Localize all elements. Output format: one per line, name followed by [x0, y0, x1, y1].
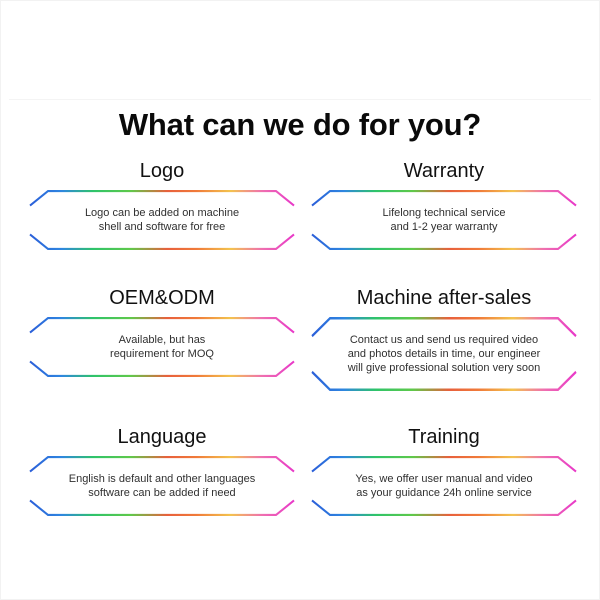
card-line: Contact us and send us required video	[340, 333, 548, 347]
card-line: Yes, we offer user manual and video	[340, 472, 548, 486]
page-root: What can we do for you? Logo	[0, 0, 600, 600]
card-training: Training Yes, we offer user manual and v…	[310, 427, 578, 516]
card-frame: Yes, we offer user manual and video as y…	[310, 456, 578, 516]
card-body: Yes, we offer user manual and video as y…	[310, 456, 578, 516]
card-body: Lifelong technical service and 1-2 year …	[310, 190, 578, 250]
card-line: and photos details in time, our engineer	[340, 347, 548, 361]
card-line: requirement for MOQ	[58, 347, 266, 361]
card-line: and 1-2 year warranty	[340, 220, 548, 234]
card-body: English is default and other languages s…	[28, 456, 296, 516]
header-divider	[9, 99, 591, 100]
card-line: Lifelong technical service	[340, 206, 548, 220]
page-title: What can we do for you?	[1, 107, 599, 143]
card-title: Language	[28, 427, 296, 447]
card-row: Language English is default and other la…	[1, 427, 600, 516]
card-frame: Contact us and send us required video an…	[310, 317, 578, 391]
card-title: Warranty	[310, 161, 578, 181]
card-body: Available, but has requirement for MOQ	[28, 317, 296, 377]
card-line: English is default and other languages	[58, 472, 266, 486]
card-body: Contact us and send us required video an…	[310, 317, 578, 391]
card-title: Training	[310, 427, 578, 447]
card-line: software can be added if need	[58, 486, 266, 500]
card-frame: Available, but has requirement for MOQ	[28, 317, 296, 377]
card-logo: Logo	[28, 161, 296, 250]
card-body: Logo can be added on machine shell and s…	[28, 190, 296, 250]
feature-card-grid: Logo	[1, 161, 600, 516]
card-row: OEM&ODM Available, but has requirement f…	[1, 288, 600, 391]
card-line: Available, but has	[58, 333, 266, 347]
card-title: Logo	[28, 161, 296, 181]
card-title: Machine after-sales	[310, 288, 578, 308]
card-language: Language English is default and other la…	[28, 427, 296, 516]
card-frame: English is default and other languages s…	[28, 456, 296, 516]
card-warranty: Warranty Lifelong technical service and …	[310, 161, 578, 250]
card-line: Logo can be added on machine	[58, 206, 266, 220]
card-line: will give professional solution very soo…	[340, 361, 548, 375]
card-oem-odm: OEM&ODM Available, but has requirement f…	[28, 288, 296, 391]
card-frame: Logo can be added on machine shell and s…	[28, 190, 296, 250]
card-line: shell and software for free	[58, 220, 266, 234]
card-row: Logo	[1, 161, 600, 250]
card-title: OEM&ODM	[28, 288, 296, 308]
card-frame: Lifelong technical service and 1-2 year …	[310, 190, 578, 250]
card-line: as your guidance 24h online service	[340, 486, 548, 500]
card-machine-after-sales: Machine after-sales Contact us and send …	[310, 288, 578, 391]
